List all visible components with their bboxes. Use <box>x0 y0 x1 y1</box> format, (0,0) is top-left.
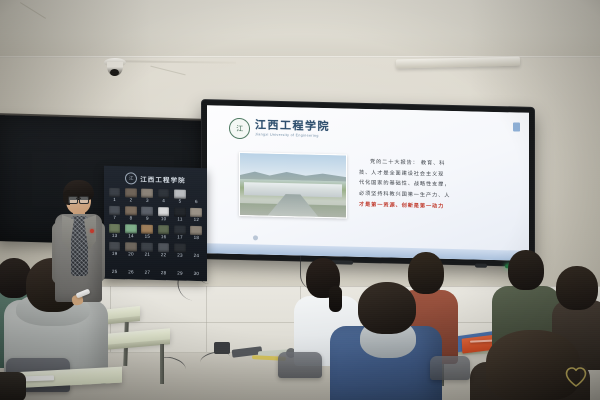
pocket-slot-11[interactable]: 11 <box>172 206 187 223</box>
pocket-slot-number: 17 <box>172 236 187 241</box>
seal-glyph: 江 <box>236 123 243 133</box>
stored-phone <box>174 207 186 216</box>
pocket-slot-number: 26 <box>123 271 138 276</box>
classroom-photo: 江 江西工程学院 Jiangxi University of Engineeri… <box>0 0 600 400</box>
pocket-slot-number: 20 <box>123 253 138 258</box>
pocket-slot-7[interactable]: 7 <box>107 205 122 222</box>
pocket-slot-27[interactable]: 27 <box>140 260 155 277</box>
pocket-slot-number: 19 <box>107 252 122 257</box>
pocket-slot-number: 22 <box>156 253 171 258</box>
pocket-slot-15[interactable]: 15 <box>140 224 155 241</box>
pocket-slot-number: 13 <box>107 234 122 239</box>
student-hair <box>556 266 598 310</box>
stored-phone <box>141 224 153 233</box>
pocket-slot-number: 29 <box>172 272 187 277</box>
pocket-slot-12[interactable]: 12 <box>189 207 204 224</box>
pocket-slot-4[interactable]: 4 <box>156 188 171 205</box>
pocket-slot-30[interactable]: 30 <box>189 261 204 278</box>
pocket-slot-number: 12 <box>189 218 204 223</box>
pocket-slot-2[interactable]: 2 <box>123 187 138 204</box>
stored-phone <box>141 188 153 197</box>
stored-phone <box>125 224 137 233</box>
university-seal-icon: 江 <box>229 118 250 139</box>
pocket-slot-25[interactable]: 25 <box>107 259 122 276</box>
stored-phone <box>174 225 186 234</box>
stored-phone <box>174 189 186 198</box>
pocket-slot-18[interactable]: 18 <box>189 225 204 242</box>
stored-phone <box>158 207 170 216</box>
pocket-slot-number: 5 <box>172 200 187 205</box>
stored-phone <box>109 242 121 251</box>
pocket-slot-23[interactable]: 23 <box>172 242 187 259</box>
display-sensor <box>475 264 487 268</box>
presentation-slide: 江 江西工程学院 Jiangxi University of Engineeri… <box>207 105 529 261</box>
pocket-slot-number: 1 <box>107 198 122 203</box>
pocket-slot-6[interactable]: 6 <box>189 189 204 206</box>
pocket-slot-21[interactable]: 21 <box>140 242 155 259</box>
stored-phone <box>125 206 137 215</box>
pocket-slot-number: 8 <box>123 217 138 222</box>
pocket-slot-19[interactable]: 19 <box>107 241 122 258</box>
pocket-slot-number: 18 <box>189 236 204 241</box>
university-name-en: Jiangxi University of Engineering <box>255 134 330 139</box>
stored-phone <box>158 243 170 252</box>
pocket-slot-number: 16 <box>156 235 171 240</box>
slide-logo: 江 江西工程学院 Jiangxi University of Engineeri… <box>229 118 330 141</box>
pocket-slot-24[interactable]: 24 <box>189 243 204 260</box>
stored-phone <box>125 242 137 251</box>
pocket-grid: 1234567891011121314151617181920212223242… <box>107 187 204 278</box>
page-badge-icon <box>513 122 520 131</box>
pocket-slot-number: 15 <box>140 235 155 240</box>
phone-storage-pocket-chart[interactable]: 江 江西工程学院 1234567891011121314151617181920… <box>104 166 207 282</box>
stored-phone <box>190 226 202 235</box>
desk-leg <box>160 344 164 384</box>
student-hair <box>486 330 580 400</box>
student-hair <box>508 250 544 290</box>
pocket-slot-number: 11 <box>172 218 187 223</box>
pocket-slot-8[interactable]: 8 <box>123 205 138 222</box>
stored-phone <box>109 206 121 215</box>
pocket-slot-3[interactable]: 3 <box>140 188 155 205</box>
pocket-slot-number: 7 <box>107 216 122 221</box>
tile-seam <box>206 286 207 352</box>
seal-glyph: 江 <box>129 175 134 181</box>
lapel-pin-icon <box>90 229 94 233</box>
slide-footer-band <box>207 243 529 261</box>
wall-mounted-led-display[interactable]: 江 江西工程学院 Jiangxi University of Engineeri… <box>202 100 534 266</box>
chair-back <box>278 352 322 378</box>
stored-phone <box>174 243 186 252</box>
pocket-slot-number: 24 <box>189 254 204 259</box>
chair-back <box>430 356 470 380</box>
pocket-slot-9[interactable]: 9 <box>140 206 155 223</box>
university-seal-icon: 江 <box>125 172 137 184</box>
pocket-slot-28[interactable]: 28 <box>156 260 171 277</box>
stored-phone <box>109 224 121 233</box>
university-name-cn: 江西工程学院 <box>255 121 330 134</box>
pocket-slot-20[interactable]: 20 <box>123 241 138 258</box>
pocket-slot-1[interactable]: 1 <box>107 187 122 204</box>
slide-line-highlight: 才是第一资源、创新是第一动力 <box>359 199 509 213</box>
stored-phone <box>109 188 121 197</box>
pocket-slot-number: 27 <box>140 271 155 276</box>
pocket-slot-26[interactable]: 26 <box>123 259 138 276</box>
pocket-slot-number: 23 <box>172 254 187 259</box>
heart-outline-icon <box>564 366 588 388</box>
pocket-slot-13[interactable]: 13 <box>107 223 122 240</box>
pocket-slot-22[interactable]: 22 <box>156 242 171 259</box>
student-ponytail <box>329 286 342 312</box>
pocket-slot-5[interactable]: 5 <box>172 188 187 205</box>
pocket-slot-number: 14 <box>123 235 138 240</box>
pocket-slot-number: 10 <box>156 217 171 222</box>
pocket-slot-number: 4 <box>156 199 171 204</box>
pocket-slot-number: 25 <box>107 270 122 275</box>
student-hair <box>358 282 416 334</box>
pocket-slot-14[interactable]: 14 <box>123 223 138 240</box>
pocket-slot-number: 2 <box>123 199 138 204</box>
stored-phone <box>190 208 202 217</box>
stored-phone <box>158 225 170 234</box>
pocket-slot-29[interactable]: 29 <box>172 260 187 277</box>
pocket-chart-title: 江西工程学院 <box>140 174 186 185</box>
dome-security-camera-icon <box>102 58 128 80</box>
student-hair <box>408 252 444 294</box>
pocket-slot-16[interactable]: 16 <box>156 224 171 241</box>
student-arm-foreground <box>0 372 26 400</box>
pocket-slot-number: 3 <box>140 199 155 204</box>
stored-phone <box>158 189 170 198</box>
slide-body-text: 党的二十大报告： 教育、科 技、人才是全面建设社会主义现 代化国家的基础性、战略… <box>359 157 509 214</box>
pocket-slot-10[interactable]: 10 <box>156 206 171 223</box>
pocket-slot-number: 9 <box>140 217 155 222</box>
stored-phone <box>141 206 153 215</box>
campus-aerial-photo <box>239 152 347 219</box>
pocket-chart-header: 江 江西工程学院 <box>104 170 207 189</box>
pocket-slot-number: 21 <box>140 253 155 258</box>
slide-bullet-dot <box>253 235 258 240</box>
eyeglasses-icon <box>68 196 89 202</box>
pocket-slot-number: 28 <box>156 271 171 276</box>
pocket-slot-number: 30 <box>189 272 204 277</box>
pocket-slot-number: 6 <box>189 200 204 205</box>
stored-phone <box>125 188 137 197</box>
pocket-slot-17[interactable]: 17 <box>172 224 187 241</box>
stored-phone <box>141 242 153 251</box>
